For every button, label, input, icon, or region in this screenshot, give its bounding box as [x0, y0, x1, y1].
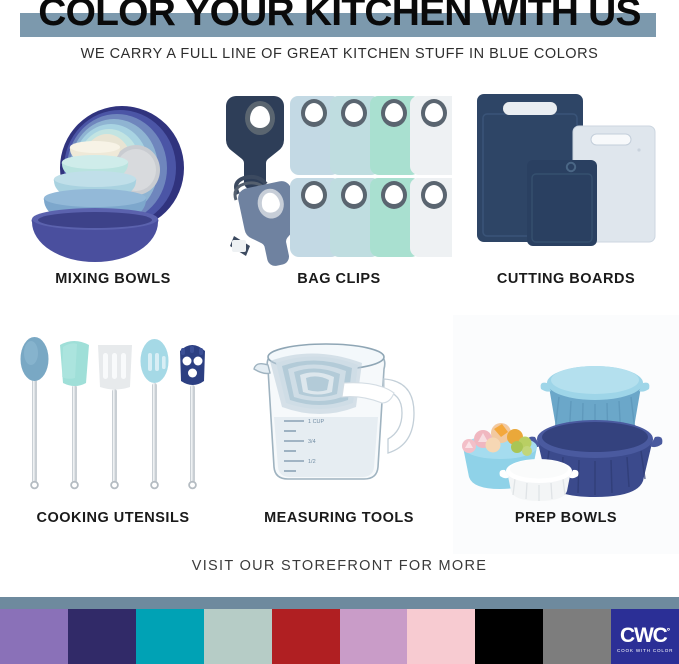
product-cell-mixing-bowls[interactable]: MIXING BOWLS	[0, 76, 226, 315]
logo-wordmark: CWC°	[620, 621, 670, 646]
swatch-pink	[407, 609, 475, 664]
swatch-orchid	[340, 609, 408, 664]
product-label-cutting-boards: CUTTING BOARDS	[453, 271, 679, 287]
logo-letters: CWC	[620, 624, 667, 647]
product-cell-cooking-utensils[interactable]: COOKING UTENSILS	[0, 315, 226, 554]
bag-clips-image	[226, 82, 452, 267]
product-label-prep-bowls: PREP BOWLS	[453, 510, 679, 526]
svg-text:3/4: 3/4	[308, 439, 316, 445]
storefront-text: VISIT OUR STOREFRONT FOR MORE	[0, 558, 679, 574]
product-label-cooking-utensils: COOKING UTENSILS	[0, 510, 226, 526]
product-cell-measuring-tools[interactable]: 1 CUP 3/4 1/2 MEASURING TOOLS	[226, 315, 452, 554]
measuring-tools-image: 1 CUP 3/4 1/2	[226, 321, 452, 506]
svg-text:1 CUP: 1 CUP	[308, 419, 325, 425]
cutting-boards-image	[453, 82, 679, 267]
product-label-mixing-bowls: MIXING BOWLS	[0, 271, 226, 287]
swatch-red	[272, 609, 340, 664]
product-label-measuring-tools: MEASURING TOOLS	[226, 510, 452, 526]
page-title: COLOR YOUR KITCHEN WITH US	[0, 0, 679, 35]
header: COLOR YOUR KITCHEN WITH US WE CARRY A FU…	[0, 0, 679, 72]
svg-text:1/2: 1/2	[308, 459, 316, 465]
product-cell-cutting-boards[interactable]: CUTTING BOARDS	[453, 76, 679, 315]
swatch-navy	[68, 609, 136, 664]
product-cell-prep-bowls[interactable]: PREP BOWLS	[453, 315, 679, 554]
swatch-black	[475, 609, 543, 664]
page-subtitle: WE CARRY A FULL LINE OF GREAT KITCHEN ST…	[0, 44, 679, 64]
product-label-bag-clips: BAG CLIPS	[226, 271, 452, 287]
mixing-bowls-image	[0, 82, 226, 267]
product-grid: MIXING BOWLS	[0, 76, 679, 554]
steel-divider-strip	[0, 597, 679, 609]
logo-tagline: COOK WITH COLOR	[617, 648, 673, 653]
logo-degree: °	[667, 626, 671, 636]
swatch-gray	[543, 609, 611, 664]
swatch-teal	[136, 609, 204, 664]
prep-bowls-image	[453, 321, 679, 506]
product-cell-bag-clips[interactable]: BAG CLIPS	[226, 76, 452, 315]
cooking-utensils-image	[0, 321, 226, 506]
brand-logo: CWC° COOK WITH COLOR	[611, 609, 679, 664]
swatch-sage	[204, 609, 272, 664]
swatch-purple	[0, 609, 68, 664]
color-swatch-bar: CWC° COOK WITH COLOR	[0, 609, 679, 664]
